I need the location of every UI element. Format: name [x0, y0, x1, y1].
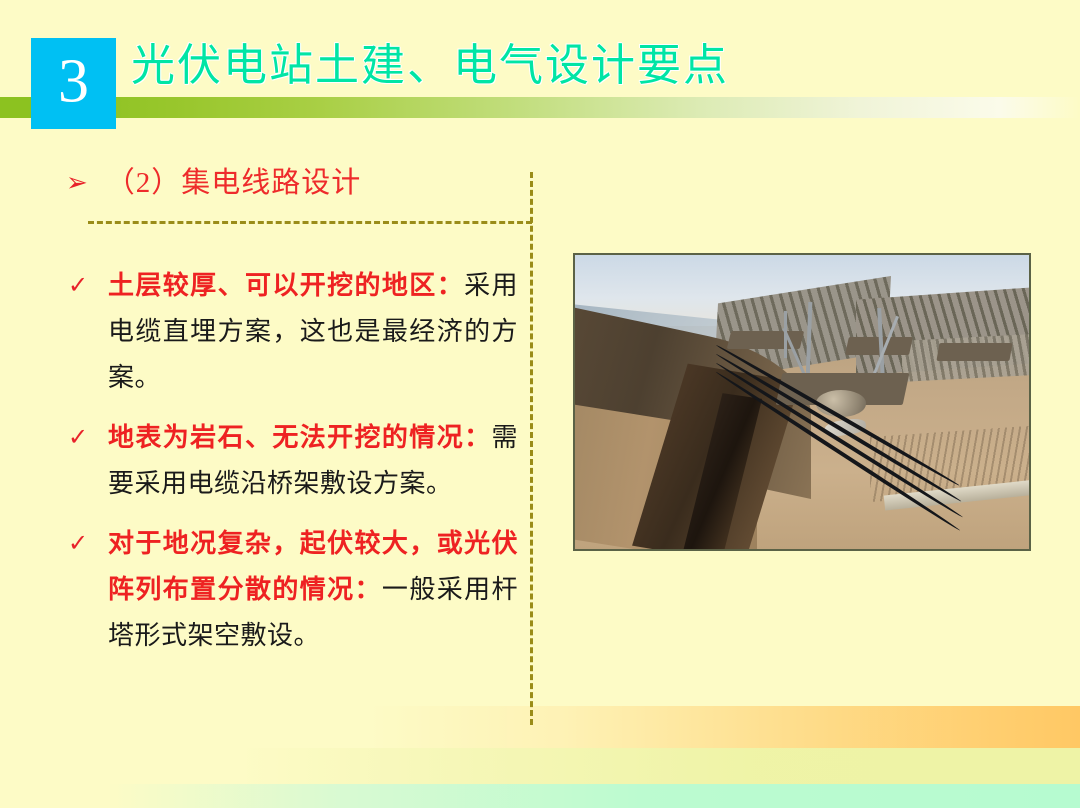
check-icon: ✓ — [68, 521, 88, 567]
vertical-dashed-divider — [530, 172, 533, 725]
section-number: 3 — [31, 50, 116, 112]
list-item: ✓ 对于地况复杂，起伏较大，或光伏阵列布置分散的情况：一般采用杆塔形式架空敷设。 — [66, 521, 518, 659]
horizontal-dashed-divider — [88, 221, 532, 224]
sub-heading-text: （2）集电线路设计 — [106, 163, 362, 203]
page-title: 光伏电站土建、电气设计要点 — [131, 36, 729, 96]
list-item: ✓ 地表为岩石、无法开挖的情况：需要采用电缆沿桥架敷设方案。 — [66, 415, 518, 507]
photo-footing — [937, 343, 1013, 361]
check-icon: ✓ — [68, 415, 88, 461]
slide: 3 光伏电站土建、电气设计要点 ➢ （2）集电线路设计 ✓ 土层较厚、可以开挖的… — [0, 0, 1080, 808]
arrow-bullet-icon: ➢ — [66, 163, 88, 203]
check-icon: ✓ — [68, 263, 88, 309]
photo-cable-drum — [816, 390, 866, 416]
decor-band-mint — [0, 784, 1080, 808]
list-item: ✓ 土层较厚、可以开挖的地区：采用电缆直埋方案，这也是最经济的方案。 — [66, 263, 518, 401]
sub-heading: ➢ （2）集电线路设计 — [66, 163, 361, 203]
list-item-paragraph: 地表为岩石、无法开挖的情况：需要采用电缆沿桥架敷设方案。 — [108, 415, 518, 507]
list-item-paragraph: 对于地况复杂，起伏较大，或光伏阵列布置分散的情况：一般采用杆塔形式架空敷设。 — [108, 521, 518, 659]
header-accent-bar — [0, 97, 1080, 118]
bullet-list: ✓ 土层较厚、可以开挖的地区：采用电缆直埋方案，这也是最经济的方案。 ✓ 地表为… — [66, 263, 518, 673]
site-photo — [573, 253, 1031, 551]
list-item-paragraph: 土层较厚、可以开挖的地区：采用电缆直埋方案，这也是最经济的方案。 — [108, 263, 518, 401]
list-item-emphasis: 土层较厚、可以开挖的地区： — [108, 271, 464, 300]
section-number-box: 3 — [31, 38, 116, 129]
decor-band-orange — [0, 706, 1080, 748]
decor-band-lime — [0, 748, 1080, 784]
list-item-emphasis: 地表为岩石、无法开挖的情况： — [108, 423, 491, 452]
